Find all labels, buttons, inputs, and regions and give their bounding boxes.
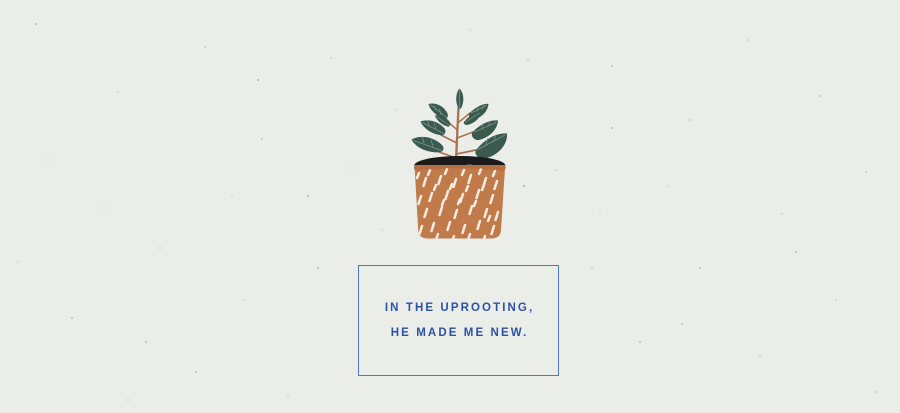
quote-line-2: HE MADE ME NEW.: [359, 321, 558, 346]
quote-frame: IN THE UPROOTING, HE MADE ME NEW.: [358, 265, 559, 376]
potted-plant-illustration: [400, 66, 520, 246]
poster-canvas: IN THE UPROOTING, HE MADE ME NEW.: [0, 0, 900, 413]
quote-text-block: IN THE UPROOTING, HE MADE ME NEW.: [359, 296, 558, 346]
quote-line-1: IN THE UPROOTING,: [359, 296, 558, 321]
terracotta-pot: [415, 165, 506, 242]
